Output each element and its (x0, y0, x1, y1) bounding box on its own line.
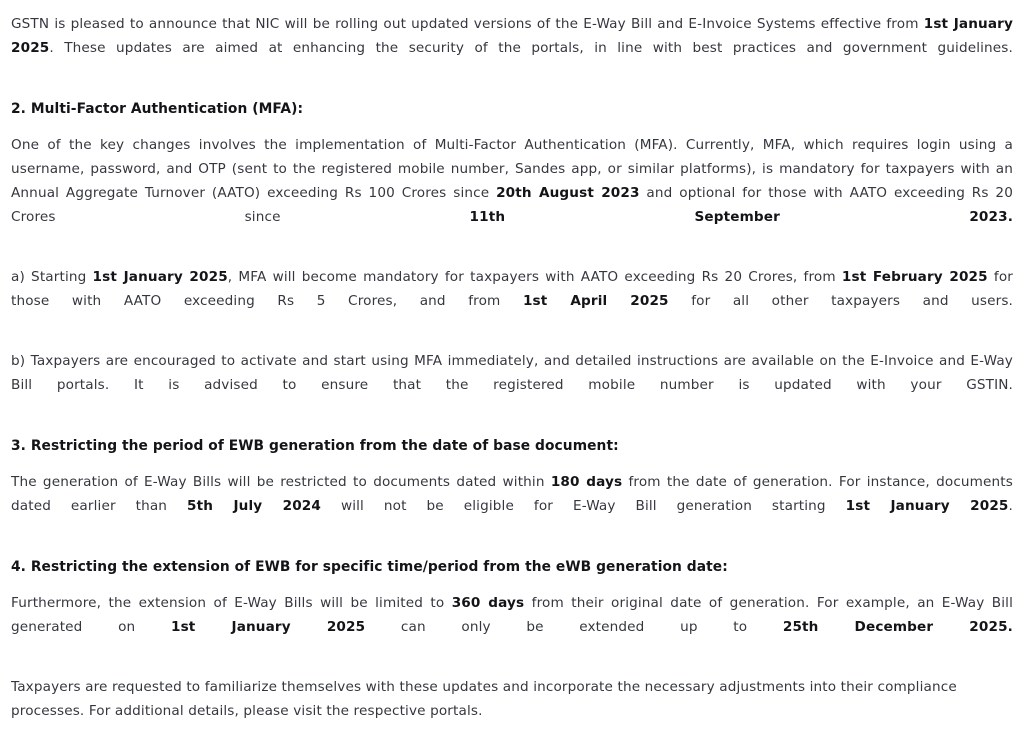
emphasis-text: 5th July 2024 (187, 498, 321, 514)
emphasis-text: 11th September 2023. (470, 209, 1014, 225)
body-text: a) Starting (11, 269, 93, 285)
intro-paragraph: GSTN is pleased to announce that NIC wil… (11, 6, 1013, 90)
mfa-description-paragraph: One of the key changes involves the impl… (11, 127, 1013, 259)
advisory-document-body: GSTN is pleased to announce that NIC wil… (0, 0, 1024, 464)
emphasis-text: 180 days (551, 474, 622, 490)
body-text: will not be eligible for E-Way Bill gene… (321, 498, 846, 514)
body-text: The generation of E-Way Bills will be re… (11, 474, 551, 490)
emphasis-text: 25th December 2025. (783, 619, 1013, 635)
body-text: can only be extended up to (365, 619, 783, 635)
body-text: GSTN is pleased to announce that NIC wil… (11, 16, 924, 32)
body-text: Furthermore, the extension of E-Way Bill… (11, 595, 452, 611)
body-text: . These updates are aimed at enhancing t… (49, 40, 1013, 56)
body-text: , MFA will become mandatory for taxpayer… (228, 269, 842, 285)
mfa-rollout-schedule-paragraph: a) Starting 1st January 2025, MFA will b… (11, 259, 1013, 343)
emphasis-text: 1st April 2025 (523, 293, 669, 309)
body-text: for all other taxpayers and users. (669, 293, 1013, 309)
emphasis-text: 20th August 2023 (496, 185, 640, 201)
section-heading-4-ewb-extension: 4. Restricting the extension of EWB for … (11, 548, 1013, 585)
body-text: Taxpayers are requested to familiarize t… (11, 679, 957, 719)
emphasis-text: 3. Restricting the period of EWB generat… (11, 438, 619, 454)
emphasis-text: 1st January 2025 (171, 619, 365, 635)
ewb-extension-restriction-paragraph: Furthermore, the extension of E-Way Bill… (11, 585, 1013, 669)
body-text: b) Taxpayers are encouraged to activate … (11, 353, 1013, 393)
body-text: . (1009, 498, 1013, 514)
closing-advisory-paragraph: Taxpayers are requested to familiarize t… (11, 669, 1013, 729)
emphasis-text: 360 days (452, 595, 525, 611)
emphasis-text: 1st January 2025 (93, 269, 228, 285)
section-heading-3-ewb-generation-period: 3. Restricting the period of EWB generat… (11, 427, 1013, 464)
emphasis-text: 1st February 2025 (842, 269, 988, 285)
emphasis-text: 1st January 2025 (846, 498, 1009, 514)
emphasis-text: 2. Multi-Factor Authentication (MFA): (11, 101, 303, 117)
section-heading-2-mfa: 2. Multi-Factor Authentication (MFA): (11, 90, 1013, 127)
emphasis-text: 4. Restricting the extension of EWB for … (11, 559, 728, 575)
ewb-generation-restriction-paragraph: The generation of E-Way Bills will be re… (11, 464, 1013, 548)
mfa-activation-advice-paragraph: b) Taxpayers are encouraged to activate … (11, 343, 1013, 427)
